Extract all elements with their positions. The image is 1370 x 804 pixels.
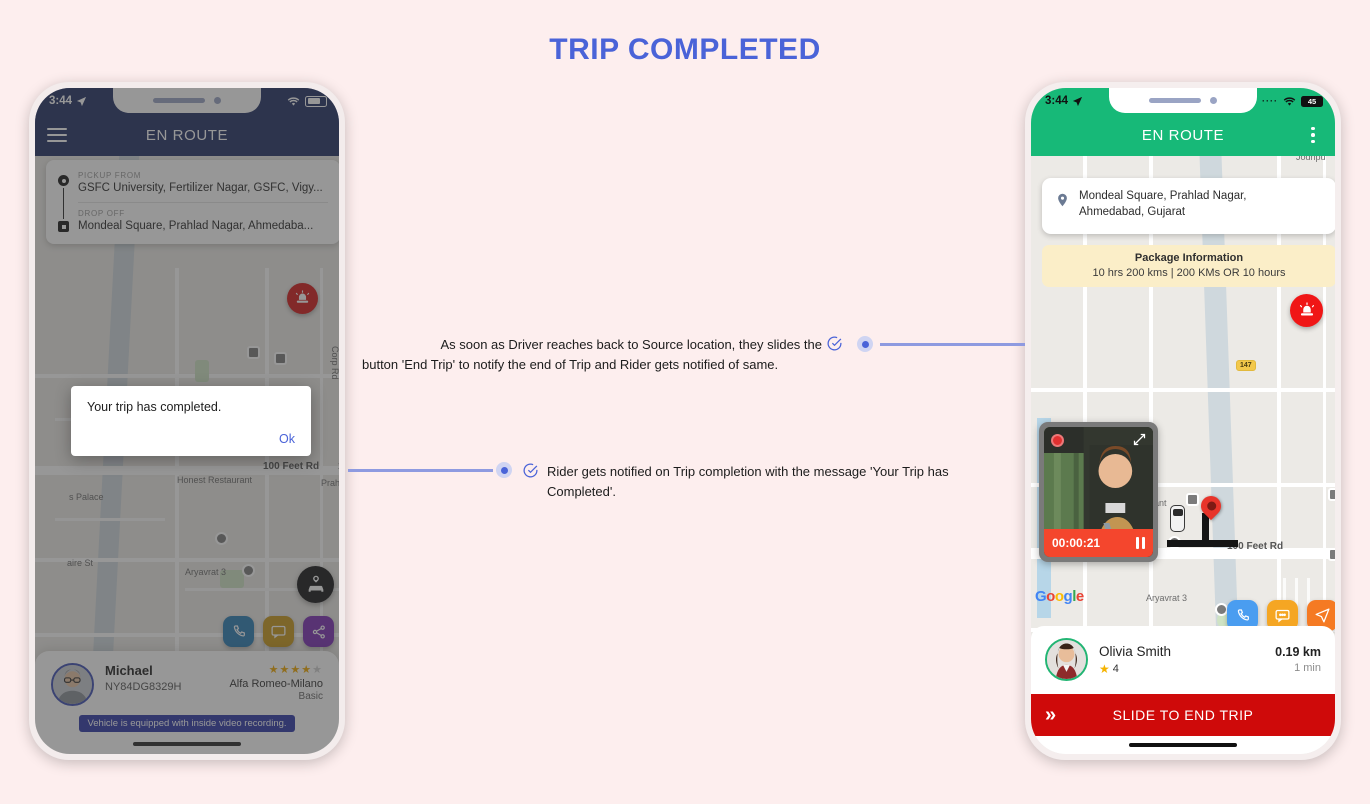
send-icon: [1314, 607, 1331, 624]
pause-icon[interactable]: [1136, 537, 1146, 549]
trip-distance: 0.19 km: [1275, 645, 1321, 659]
rider-row: Olivia Smith ★ 4 0.19 km 1 min: [1031, 626, 1335, 694]
right-phone-frame: 147 147 100 Feet Rd Jodhpu Aryavrat 3 an…: [1025, 82, 1341, 760]
right-phone-screen: 147 147 100 Feet Rd Jodhpu Aryavrat 3 an…: [1031, 88, 1335, 754]
rider-rating: ★ 4: [1099, 662, 1171, 676]
annotation-rider-notified-line1: Rider gets notified on Trip completion w…: [547, 464, 949, 479]
address-line-1: Mondeal Square, Prahlad Nagar,: [1079, 189, 1247, 205]
page-title: TRIP COMPLETED: [0, 33, 1370, 67]
expand-icon[interactable]: [1132, 432, 1147, 450]
right-notch: [1109, 88, 1257, 113]
left-phone-frame: 147 147 100 Feet Rd 10 Honest Restaurant…: [29, 82, 345, 760]
slide-to-end-trip-button[interactable]: » SLIDE TO END TRIP: [1031, 694, 1335, 736]
destination-address-text: Mondeal Square, Prahlad Nagar, Ahmedabad…: [1079, 189, 1247, 220]
package-details: 10 hrs 200 kms | 200 KMs OR 10 hours: [1052, 267, 1326, 279]
annotation-rider-notified-line2: Completed'.: [547, 484, 616, 499]
map-road: [1031, 388, 1335, 392]
connector-line-rider-notified: [348, 469, 493, 472]
map-route-shield: 147: [1236, 360, 1256, 371]
signal-dots: ····: [1262, 96, 1278, 106]
trip-completed-alert: Your trip has completed. Ok: [71, 386, 311, 456]
map-poi: [1328, 548, 1335, 561]
trip-eta: 1 min: [1275, 662, 1321, 674]
annotation-text-rider-notified: Rider gets notified on Trip completion w…: [547, 462, 992, 501]
package-information-card: Package Information 10 hrs 200 kms | 200…: [1042, 245, 1335, 287]
sos-siren-icon: [1298, 302, 1316, 320]
video-frame: 00:00:21: [1044, 427, 1153, 557]
vehicle-icon: [1170, 505, 1185, 532]
record-dot-icon: [1051, 434, 1064, 447]
map-poi: [1186, 493, 1199, 506]
status-left: 3:44: [1045, 95, 1083, 107]
annotation-end-trip-line2: button 'End Trip' to notify the end of T…: [362, 355, 822, 375]
map-poi: [1328, 488, 1335, 501]
slide-button-label: SLIDE TO END TRIP: [1031, 707, 1335, 723]
status-time: 3:44: [1045, 95, 1068, 107]
rider-identity: Olivia Smith ★ 4: [1099, 644, 1171, 676]
expand-arrows-icon: [1132, 432, 1147, 447]
inside-video-widget[interactable]: 00:00:21: [1039, 422, 1158, 562]
front-camera: [1210, 97, 1217, 104]
trip-distance-block: 0.19 km 1 min: [1275, 645, 1321, 674]
alert-ok-button[interactable]: Ok: [87, 432, 295, 446]
annotation-bullet-rider-notified: [496, 462, 512, 478]
avatar: [1045, 638, 1088, 681]
phone-icon: [1235, 608, 1251, 624]
video-timer-bar: 00:00:21: [1044, 529, 1153, 557]
google-logo: Google: [1035, 588, 1084, 605]
check-circle-icon: [826, 335, 843, 352]
connector-line-end-trip: [880, 343, 1025, 346]
right-app-bar: EN ROUTE: [1031, 114, 1335, 156]
map-label: Aryavrat 3: [1146, 593, 1187, 603]
home-indicator: [1129, 743, 1237, 747]
map-pin-icon: [1055, 191, 1070, 209]
star-icon: ★: [1099, 662, 1110, 676]
alert-message: Your trip has completed.: [87, 400, 295, 414]
sos-button[interactable]: [1290, 294, 1323, 327]
destination-address-card[interactable]: Mondeal Square, Prahlad Nagar, Ahmedabad…: [1042, 178, 1335, 234]
left-phone-screen: 147 147 100 Feet Rd 10 Honest Restaurant…: [35, 88, 339, 754]
check-circle-icon: [522, 462, 539, 479]
package-title: Package Information: [1052, 252, 1326, 264]
battery-icon: 45: [1301, 96, 1323, 107]
rider-name: Olivia Smith: [1099, 644, 1171, 659]
address-line-2: Ahmedabad, Gujarat: [1079, 205, 1247, 221]
annotation-text-end-trip: As soon as Driver reaches back to Source…: [362, 335, 822, 374]
battery-level: 45: [1308, 97, 1316, 106]
chat-icon: [1274, 607, 1291, 624]
kebab-menu-icon[interactable]: [1303, 127, 1323, 144]
map-route-h2: [1167, 540, 1205, 547]
location-arrow-icon: [1072, 96, 1083, 107]
rider-rating-value: 4: [1113, 663, 1119, 675]
recording-timer: 00:00:21: [1052, 536, 1100, 550]
app-bar-title: EN ROUTE: [1063, 127, 1303, 144]
speaker-grille: [1149, 98, 1201, 103]
wifi-icon: [1283, 96, 1296, 107]
status-right: ···· 45: [1262, 96, 1323, 107]
rider-avatar-image: [1047, 640, 1086, 679]
annotation-end-trip-line1: As soon as Driver reaches back to Source…: [440, 337, 822, 352]
page-root: TRIP COMPLETED: [0, 0, 1370, 804]
annotation-bullet-end-trip: [857, 336, 873, 352]
rider-info-sheet: Olivia Smith ★ 4 0.19 km 1 min » SLIDE T…: [1031, 626, 1335, 754]
